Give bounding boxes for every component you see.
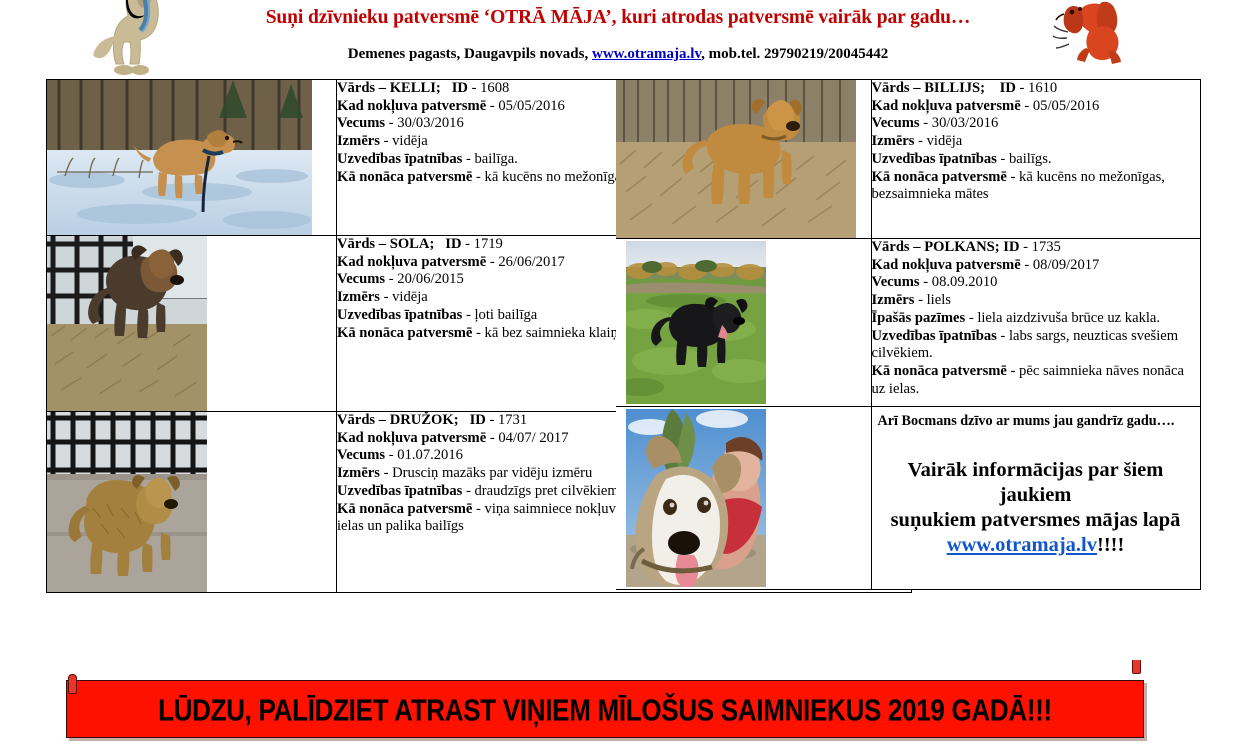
sola-behaviour-value: - ļoti bailīga <box>466 307 537 323</box>
table-row: Vārds – POLKANS; ID - 1735 Kad nokļuva p… <box>616 239 1200 407</box>
polkans-size-value: - liels <box>918 292 951 308</box>
sola-how-label: Kā nonāca patversmē <box>337 325 472 341</box>
info-cell-promo: Arī Bocmans dzīvo ar mums jau gandrīz ga… <box>871 407 1200 590</box>
photo-bocmans-selfie <box>626 409 867 587</box>
druzok-id-value: - 1731 <box>489 412 527 428</box>
billijs-arrived-label: Kad nokļuva patversmē <box>872 98 1021 114</box>
billijs-arrived-value: - 05/05/2016 <box>1024 98 1099 114</box>
photo-kelli-snow <box>47 80 336 235</box>
photo-druzok-kennel <box>47 412 336 592</box>
billijs-behaviour-value: - bailīgs. <box>1000 151 1051 167</box>
polkans-id-value: - 1735 <box>1023 239 1061 255</box>
sola-behaviour-label: Uzvedības īpatnības <box>337 307 462 323</box>
photo-cell-polkans <box>616 239 871 407</box>
billijs-size-label: Izmērs <box>872 133 915 149</box>
promo-line-2: suņukiem patversmes mājas lapā <box>891 509 1181 531</box>
bottom-banner-area: Augšdaugavas novads LŪDZU, PALĪDZIET ATR… <box>0 660 1236 746</box>
sola-id-label: ID <box>445 236 461 252</box>
sola-id-value: - 1719 <box>465 236 503 252</box>
photo-cell-billijs <box>616 80 871 239</box>
druzok-how-label: Kā nonāca patversmē <box>337 501 472 517</box>
promo-top-text: Arī Bocmans dzīvo ar mums jau gandrīz ga… <box>872 407 1200 430</box>
billijs-behaviour-label: Uzvedības īpatnības <box>872 151 997 167</box>
photo-sola-kennel <box>47 236 336 411</box>
kelli-id-label: ID <box>452 80 468 96</box>
kelli-id-value: - 1608 <box>472 80 510 96</box>
kelli-behaviour-label: Uzvedības īpatnības <box>337 151 462 167</box>
info-cell-billijs: Vārds – BILLIJS; ID - 1610 Kad nokļuva p… <box>871 80 1200 239</box>
druzok-age-value: - 01.07.2016 <box>389 447 463 463</box>
sola-name: Vārds – SOLA; <box>337 236 434 252</box>
call-to-action-banner: LŪDZU, PALĪDZIET ATRAST VIŅIEM MĪLOŠUS S… <box>66 680 1144 738</box>
polkans-id-label: ID <box>1003 239 1019 255</box>
billijs-id-value: - 1610 <box>1020 80 1058 96</box>
kelli-name: Vārds – KELLI; <box>337 80 441 96</box>
kelli-how-label: Kā nonāca patversmē <box>337 169 472 185</box>
polkans-marks-label: Īpašās pazīmes <box>872 310 966 326</box>
sola-size-label: Izmērs <box>337 289 380 305</box>
pin-left-icon <box>68 674 77 694</box>
page-header: Suņi dzīvnieku patversmē ‘OTRĀ MĀJA’, ku… <box>0 0 1236 72</box>
kelli-arrived-value: - 05/05/2016 <box>490 98 565 114</box>
subtitle-suffix: , mob.tel. 29790219/20045442 <box>701 46 888 62</box>
shelter-website-link-top[interactable]: www.otramaja.lv <box>592 46 701 62</box>
promo-link-suffix: !!!! <box>1097 534 1124 556</box>
promo-big-text: Vairāk informācijas par šiem jaukiem suņ… <box>872 458 1200 558</box>
druzok-arrived-value: - 04/07/ 2017 <box>490 430 569 446</box>
sola-arrived-label: Kad nokļuva patversmē <box>337 254 486 270</box>
table-row: Arī Bocmans dzīvo ar mums jau gandrīz ga… <box>616 407 1200 590</box>
kelli-size-value: - vidēja <box>384 133 428 149</box>
billijs-age-value: - 30/03/2016 <box>923 115 998 131</box>
polkans-marks-value: - liela aizdzivuša brūce uz kakla. <box>969 310 1160 326</box>
polkans-age-label: Vecums <box>872 274 920 290</box>
druzok-arrived-label: Kad nokļuva patversmē <box>337 430 486 446</box>
druzok-behaviour-label: Uzvedības īpatnības <box>337 483 462 499</box>
billijs-how-label: Kā nonāca patversmē <box>872 169 1007 185</box>
call-to-action-text: LŪDZU, PALĪDZIET ATRAST VIŅIEM MĪLOŠUS S… <box>67 692 1143 729</box>
kelli-age-label: Vecums <box>337 115 385 131</box>
table-row: Vārds – BILLIJS; ID - 1610 Kad nokļuva p… <box>616 80 1200 239</box>
photo-polkans-meadow <box>626 241 867 404</box>
druzok-size-label: Izmērs <box>337 465 380 481</box>
kelli-behaviour-value: - bailīga. <box>466 151 518 167</box>
info-cell-polkans: Vārds – POLKANS; ID - 1735 Kad nokļuva p… <box>871 239 1200 407</box>
photo-cell-bocmans <box>616 407 871 590</box>
billijs-size-value: - vidēja <box>918 133 962 149</box>
photo-cell-sola <box>47 236 337 412</box>
sola-size-value: - vidēja <box>384 289 428 305</box>
billijs-age-label: Vecums <box>872 115 920 131</box>
kelli-size-label: Izmērs <box>337 133 380 149</box>
druzok-age-label: Vecums <box>337 447 385 463</box>
polkans-arrived-value: - 08/09/2017 <box>1024 257 1099 273</box>
kelli-age-value: - 30/03/2016 <box>389 115 464 131</box>
promo-line-1: Vairāk informācijas par šiem jaukiem <box>908 459 1164 506</box>
shelter-website-link-promo[interactable]: www.otramaja.lv <box>947 534 1097 556</box>
pin-right-icon <box>1132 660 1141 674</box>
polkans-age-value: - 08.09.2010 <box>923 274 997 290</box>
druzok-name: Vārds – DRUŽOK; <box>337 412 459 428</box>
photo-cell-kelli <box>47 80 337 236</box>
polkans-how-label: Kā nonāca patversmē <box>872 363 1007 379</box>
sola-age-value: - 20/06/2015 <box>389 271 464 287</box>
dogs-table-right: Vārds – BILLIJS; ID - 1610 Kad nokļuva p… <box>616 79 1201 590</box>
billijs-id-label: ID <box>1000 80 1016 96</box>
sola-arrived-value: - 26/06/2017 <box>490 254 565 270</box>
polkans-arrived-label: Kad nokļuva patversmē <box>872 257 1021 273</box>
polkans-behaviour-label: Uzvedības īpatnības <box>872 328 997 344</box>
polkans-name: Vārds – POLKANS; <box>872 239 1000 255</box>
druzok-id-label: ID <box>470 412 486 428</box>
kelli-arrived-label: Kad nokļuva patversmē <box>337 98 486 114</box>
sola-age-label: Vecums <box>337 271 385 287</box>
billijs-name: Vārds – BILLIJS; <box>872 80 986 96</box>
druzok-size-value: - Drusciņ mazāks par vidēju izmēru <box>384 465 593 481</box>
polkans-size-label: Izmērs <box>872 292 915 308</box>
photo-billijs-field <box>616 80 871 238</box>
red-dachshund-illustration <box>1050 0 1170 68</box>
photo-cell-druzok <box>47 412 337 593</box>
subtitle-prefix: Demenes pagasts, Daugavpils novads, <box>348 46 592 62</box>
